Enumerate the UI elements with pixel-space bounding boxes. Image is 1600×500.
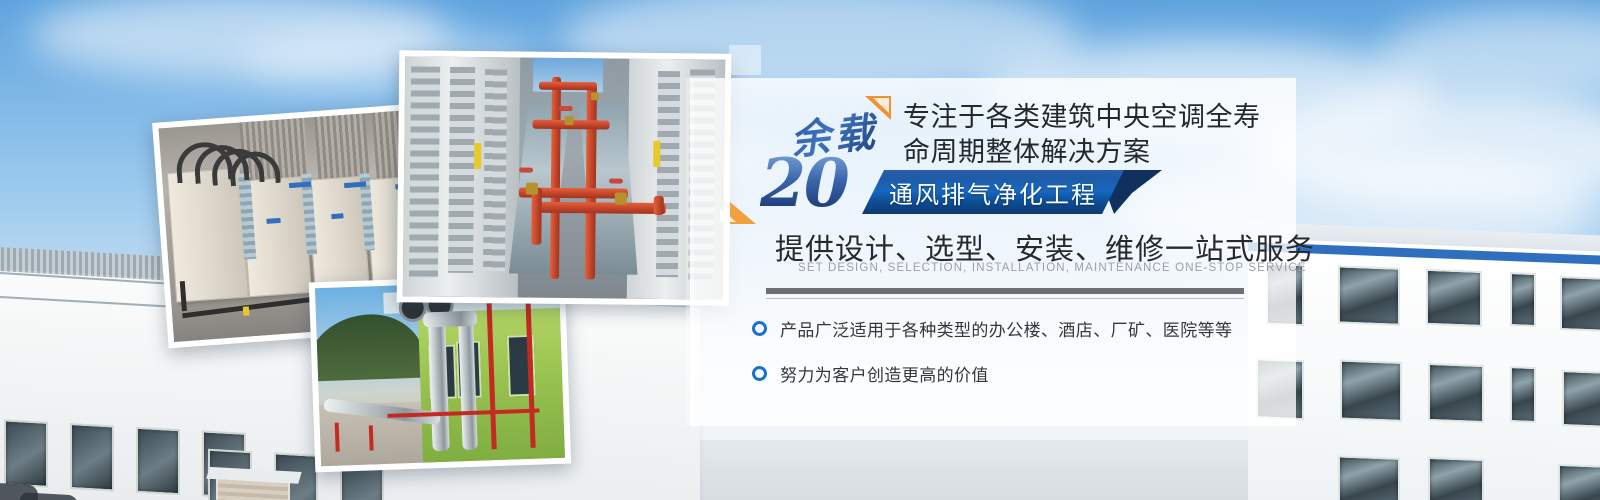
divider-thin-line — [766, 298, 1244, 299]
list-item-label: 产品广泛适用于各种类型的办公楼、酒店、厂矿、医院等等 — [780, 316, 1232, 341]
divider-thick-bar — [766, 288, 1244, 294]
hero-banner: 余载 20 专注于各类建筑中央空调全寿命周期整体解决方案 通风排气净化工程 提供… — [0, 0, 1600, 500]
window — [1428, 363, 1484, 423]
roller-door — [216, 477, 290, 500]
window — [1340, 360, 1402, 422]
corner-arrow-down-left-icon — [730, 202, 756, 224]
window — [1560, 276, 1600, 332]
feature-bullet-list: 产品广泛适用于各种类型的办公楼、酒店、厂矿、医院等等 努力为客户创造更高的价值 — [752, 316, 1232, 406]
photo-green-building-ducts — [315, 280, 565, 466]
window — [1428, 457, 1484, 500]
list-item-label: 努力为客户创造更高的价值 — [780, 361, 989, 386]
window — [1510, 366, 1536, 423]
window — [4, 419, 48, 487]
window — [70, 423, 114, 491]
headline: 专注于各类建筑中央空调全寿命周期整体解决方案 — [903, 101, 1273, 170]
window — [1426, 269, 1482, 327]
window — [136, 427, 180, 495]
service-ribbon: 通风排气净化工程 — [862, 170, 1162, 214]
window — [1338, 265, 1400, 325]
list-item: 产品广泛适用于各种类型的办公楼、酒店、厂矿、医院等等 — [752, 316, 1232, 341]
window — [1562, 370, 1600, 428]
background-building-right — [1248, 236, 1600, 500]
ribbon-label: 通风排气净化工程 — [862, 170, 1124, 214]
ring-bullet-icon — [752, 366, 767, 381]
photo-card-chiller-pipes[interactable] — [397, 50, 732, 305]
list-item: 努力为客户创造更高的价值 — [752, 361, 1232, 386]
window — [1558, 464, 1600, 500]
photo-red-chiller-pipes — [403, 56, 725, 299]
window — [1510, 272, 1536, 327]
corner-arrow-up-right-icon — [865, 96, 891, 120]
window — [1338, 455, 1400, 500]
ring-bullet-icon — [752, 321, 767, 336]
section-divider — [766, 288, 1244, 299]
panel-accent-square — [729, 45, 761, 75]
subheadline-english: SET DESIGN, SELECTION, INSTALLATION, MAI… — [798, 262, 1307, 274]
logo-years-number: 20 — [760, 150, 848, 216]
